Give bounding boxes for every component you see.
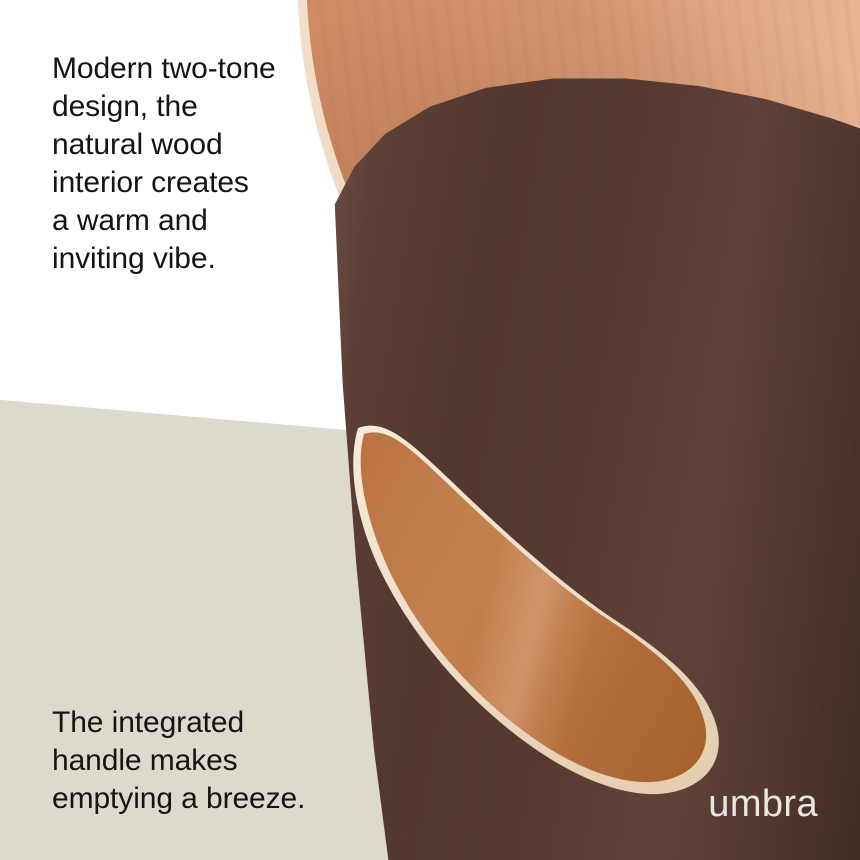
brand-wordmark: umbra xyxy=(708,784,818,824)
feature-caption-top: Modern two-tone design, the natural wood… xyxy=(52,50,322,278)
product-feature-image: Modern two-tone design, the natural wood… xyxy=(0,0,860,860)
feature-caption-bottom: The integrated handle makes emptying a b… xyxy=(52,704,352,818)
